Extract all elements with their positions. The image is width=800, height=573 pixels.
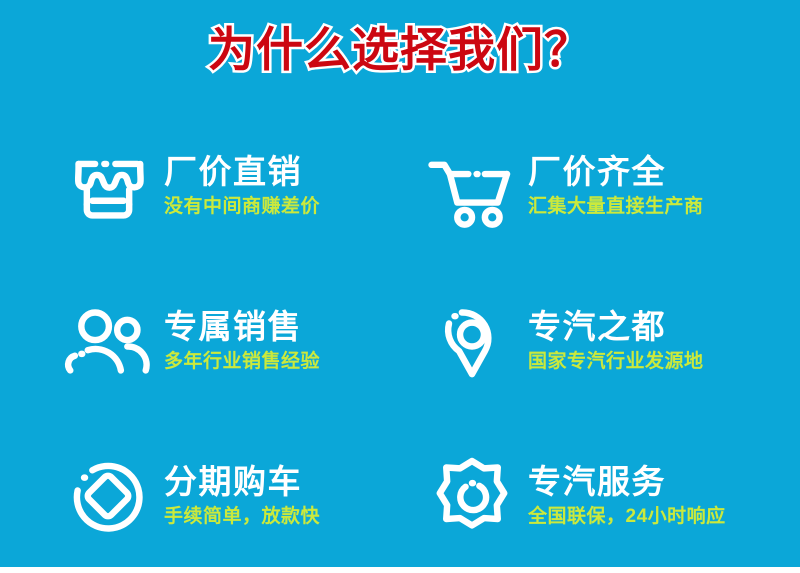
feature-item-vehicle-capital[interactable]: 专汽之都 国家专汽行业发源地 bbox=[400, 263, 800, 418]
feature-subtitle: 国家专汽行业发源地 bbox=[528, 351, 704, 373]
feature-text-block: 专属销售 多年行业销售经验 bbox=[164, 308, 320, 373]
feature-title: 专属销售 bbox=[164, 308, 320, 346]
feature-title: 专汽服务 bbox=[528, 463, 726, 501]
feature-title: 厂价齐全 bbox=[528, 153, 704, 191]
feature-item-service[interactable]: 专汽服务 全国联保，24小时响应 bbox=[400, 418, 800, 573]
feature-text-block: 厂价直销 没有中间商赚差价 bbox=[164, 153, 320, 218]
gear-icon bbox=[426, 450, 518, 542]
feature-item-installment[interactable]: 分期购车 手续简单，放款快 bbox=[0, 418, 400, 573]
feature-text-block: 厂价齐全 汇集大量直接生产商 bbox=[528, 153, 704, 218]
feature-subtitle: 没有中间商赚差价 bbox=[164, 196, 320, 218]
feature-text-block: 专汽之都 国家专汽行业发源地 bbox=[528, 308, 704, 373]
feature-text-block: 分期购车 手续简单，放款快 bbox=[164, 463, 320, 528]
feature-title: 分期购车 bbox=[164, 463, 320, 501]
circle-diamond-icon bbox=[62, 450, 154, 542]
storefront-icon bbox=[62, 140, 154, 232]
page-title: 为什么选择我们？ bbox=[208, 24, 592, 77]
map-pin-icon bbox=[426, 295, 518, 387]
feature-subtitle: 多年行业销售经验 bbox=[164, 351, 320, 373]
feature-text-block: 专汽服务 全国联保，24小时响应 bbox=[528, 463, 726, 528]
feature-item-dedicated-sales[interactable]: 专属销售 多年行业销售经验 bbox=[0, 263, 400, 418]
feature-item-factory-direct[interactable]: 厂价直销 没有中间商赚差价 bbox=[0, 108, 400, 263]
two-people-icon bbox=[62, 295, 154, 387]
shopping-cart-icon bbox=[426, 140, 518, 232]
feature-title: 厂价直销 bbox=[164, 153, 320, 191]
feature-title: 专汽之都 bbox=[528, 308, 704, 346]
feature-subtitle: 汇集大量直接生产商 bbox=[528, 196, 704, 218]
feature-item-full-range[interactable]: 厂价齐全 汇集大量直接生产商 bbox=[400, 108, 800, 263]
feature-subtitle: 全国联保，24小时响应 bbox=[528, 506, 726, 528]
feature-grid: 厂价直销 没有中间商赚差价 厂价齐全 汇集大量直接生产商 bbox=[0, 108, 800, 573]
headline-container: 为什么选择我们？ bbox=[0, 24, 800, 77]
feature-subtitle: 手续简单，放款快 bbox=[164, 506, 320, 528]
promo-poster: 为什么选择我们？ 厂价直销 没有中间商赚差价 bbox=[0, 0, 800, 567]
